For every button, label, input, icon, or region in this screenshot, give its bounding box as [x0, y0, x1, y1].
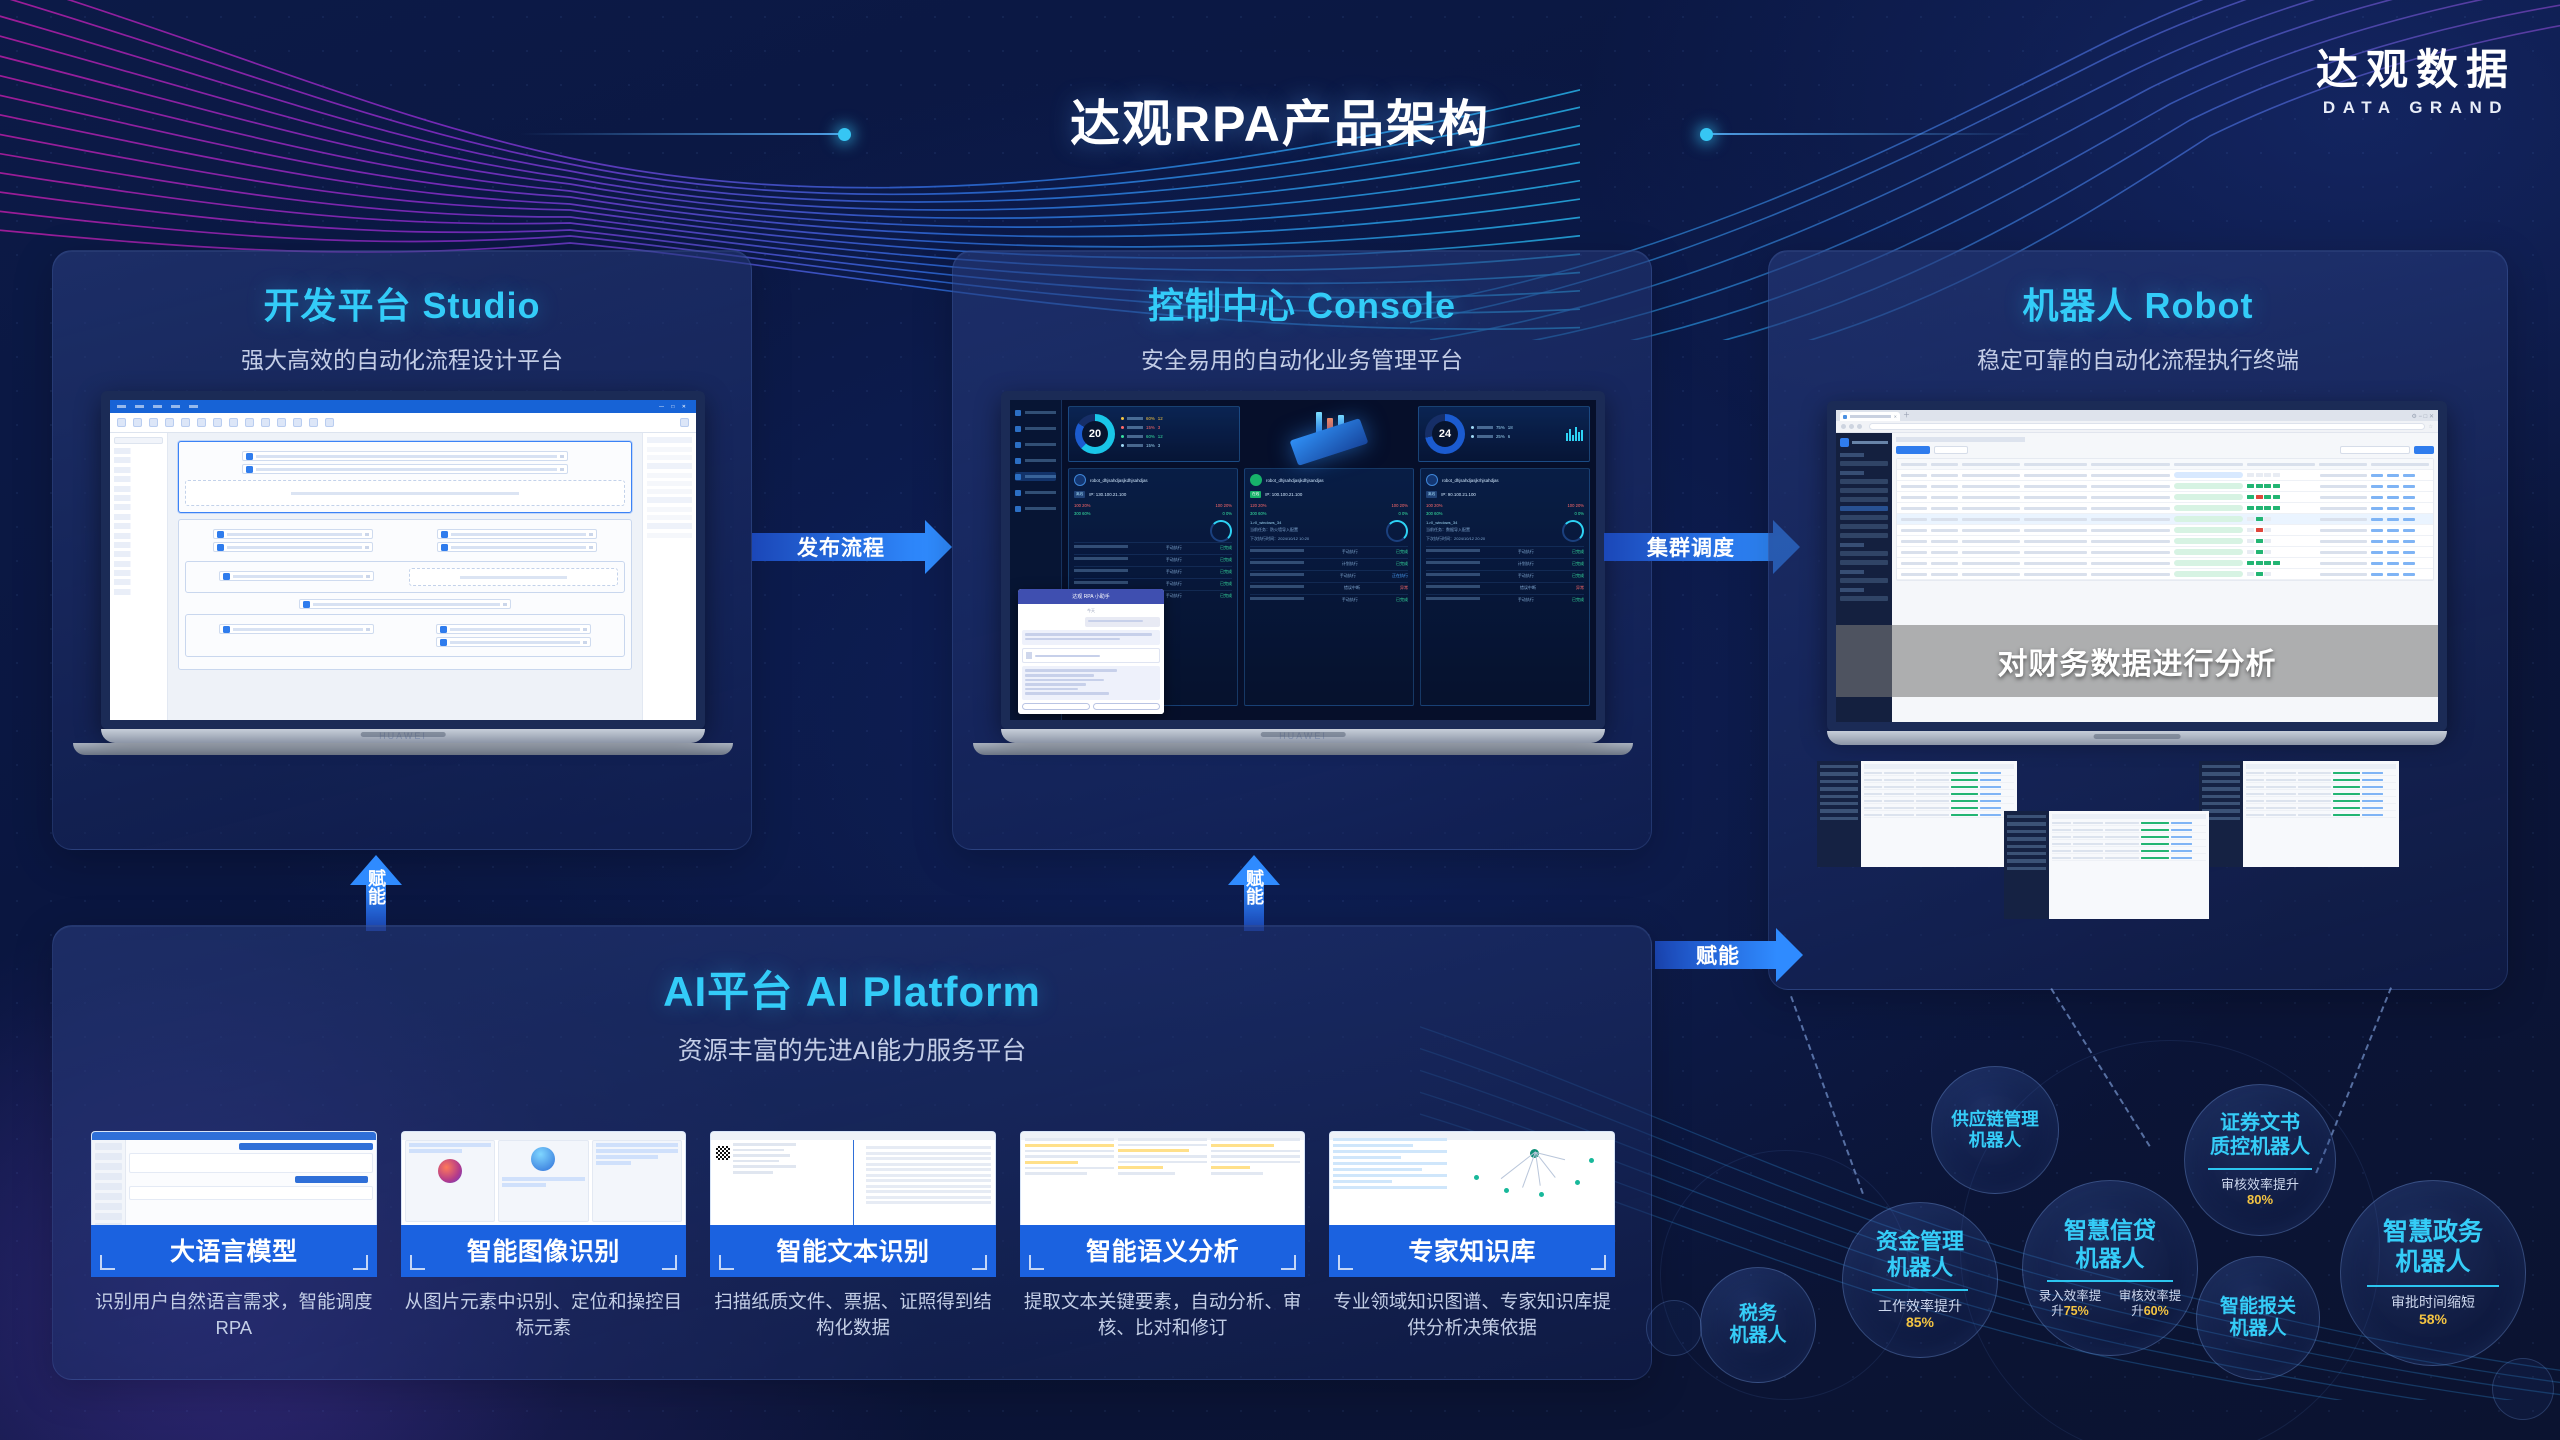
panel-robot-title: 机器人 Robot	[1769, 277, 2507, 329]
donut-chart-left: 20	[1075, 414, 1115, 454]
search-input[interactable]	[2340, 446, 2410, 454]
console-laptop-brand: HUAWEI	[1001, 731, 1605, 741]
table-row[interactable]	[1897, 547, 2433, 558]
content-toolbar[interactable]	[1896, 446, 2434, 454]
arrow-publish-flow-label: 发布流程	[752, 520, 930, 574]
console-robot-card[interactable]: robot_dhjsahdjasjkrhjsahdjas 离线 IP: 90.1…	[1420, 468, 1590, 706]
studio-titlebar: — □ ✕	[110, 400, 696, 413]
bubble-gov-value: 58%	[2419, 1311, 2447, 1327]
panel-studio: 开发平台 Studio 强大高效的自动化流程设计平台 — □ ✕	[52, 250, 752, 850]
bookmark-icon[interactable]: ☆	[2429, 424, 2433, 430]
table-row[interactable]	[1897, 569, 2433, 580]
secondary-action-button[interactable]	[1934, 446, 1968, 454]
bubble-credit-suffix: 机器人	[2076, 1245, 2145, 1271]
table-row[interactable]	[1897, 525, 2433, 536]
bubble-credit-value-b: 60%	[2144, 1304, 2169, 1318]
robot-scenario-cluster: 税务 机器人 资金管理 机器人 工作效率提升85% 供应链管理 机器人	[1680, 1000, 2560, 1440]
ai-card-kb-label: 专家知识库	[1329, 1225, 1615, 1277]
bubble-gov-suffix: 机器人	[2395, 1248, 2470, 1276]
panel-ai-head: AI平台 AI Platform 资源丰富的先进AI能力服务平台	[53, 926, 1651, 1067]
ai-card-semantic-screenshot	[1020, 1131, 1306, 1225]
robot-records-mini	[1817, 761, 2017, 859]
studio-flow-canvas[interactable]	[168, 433, 642, 720]
panel-ai-subtitle: 资源丰富的先进AI能力服务平台	[53, 1031, 1651, 1067]
ai-card-kb-screenshot	[1329, 1131, 1615, 1225]
console-rpa-assistant-chat[interactable]: 达观 RPA 小助手 今天	[1018, 589, 1164, 714]
poster-header: 达观RPA产品架构 达观数据 DATA GRAND	[0, 0, 2560, 170]
arrow-publish-flow: 发布流程	[752, 520, 952, 574]
title-dot-right	[1700, 128, 1713, 141]
arrow-empower-studio-label: 赋能	[363, 869, 389, 905]
brand-logo: 达观数据 DATA GRAND	[2316, 48, 2516, 118]
records-table	[1896, 458, 2434, 581]
panel-console: 控制中心 Console 安全易用的自动化业务管理平台	[952, 250, 1652, 850]
ai-card-semantic-analysis[interactable]: 智能语义分析 提取文本关键要素，自动分析、审核、比对和修订	[1020, 1131, 1306, 1342]
bubble-customs-robot[interactable]: 智能报关 机器人	[2196, 1256, 2320, 1380]
breadcrumb	[1896, 437, 2025, 442]
arrow-empower-console: 赋能	[1228, 855, 1280, 931]
robot-card-ip: IP: 90.100.21.100	[1441, 492, 1476, 497]
studio-laptop-screen: — □ ✕	[101, 391, 705, 729]
robot-records-mini	[2199, 761, 2399, 859]
flow-group[interactable]	[178, 519, 632, 670]
browser-address-bar[interactable]: ☆	[1836, 421, 2438, 433]
bubble-tax-name: 税务	[1739, 1303, 1777, 1324]
robot-laptop-screen: ✕ ＋ ⚙ − □ ✕ ☆	[1827, 401, 2447, 731]
ai-capability-cards: 大语言模型 识别用户自然语言需求，智能调度RPA 智能图像识别 从图片元素	[53, 1131, 1653, 1342]
robot-laptop-center-screen	[2004, 811, 2209, 911]
ai-card-llm-screenshot	[91, 1131, 377, 1225]
bubble-divider	[2208, 1168, 2312, 1170]
table-row[interactable]	[1897, 492, 2433, 503]
chat-body: 今天	[1018, 604, 1164, 714]
ai-card-text-recognition[interactable]: 智能文本识别 扫描纸质文件、票据、证照得到结构化数据	[710, 1131, 996, 1342]
browser-tab-strip[interactable]: ✕ ＋ ⚙ − □ ✕	[1836, 410, 2438, 421]
browser-tab[interactable]: ✕	[1840, 412, 1900, 421]
title-rule-right	[1710, 133, 2030, 135]
robot-laptop-left	[1817, 761, 2017, 867]
robot-laptop-base	[1827, 731, 2447, 745]
console-kpi-left: 20 60%12 15%3 60%12 15%3	[1068, 406, 1240, 462]
table-row[interactable]	[1897, 558, 2433, 569]
console-kpi-right-legend: 75%18 25%6	[1471, 425, 1513, 443]
arrow-empower-console-label: 赋能	[1241, 869, 1267, 905]
browser-nav-buttons[interactable]	[1841, 424, 1865, 430]
bubble-customs-name: 智能报关	[2220, 1296, 2296, 1317]
bubble-securities-robot[interactable]: 证券文书 质控机器人 审核效率提升80%	[2184, 1084, 2336, 1236]
studio-activity-palette[interactable]	[110, 433, 168, 720]
decorative-bubble	[1646, 1300, 1702, 1356]
bubble-divider	[2367, 1285, 2499, 1287]
poster-canvas: 达观RPA产品架构 达观数据 DATA GRAND 开发平台 Studio 强大…	[0, 0, 2560, 1440]
qr-code-icon	[716, 1146, 730, 1160]
console-task-name: 1-r0_windows_34	[1250, 520, 1408, 525]
ai-card-llm-desc: 识别用户自然语言需求，智能调度RPA	[91, 1289, 377, 1342]
console-laptop: 20 60%12 15%3 60%12 15%3	[1001, 391, 1605, 755]
palette-search-input[interactable]	[114, 437, 163, 444]
new-tab-icon[interactable]: ＋	[1903, 410, 1910, 421]
robot-card-name: robot_dhjsahdjasjkdhjsahdjas	[1090, 478, 1148, 483]
panel-robot-subtitle: 稳定可靠的自动化流程执行终端	[1769, 341, 2507, 375]
primary-action-button[interactable]	[1896, 446, 1930, 454]
robot-card-ip: IP: 100.100.21.100	[1265, 492, 1302, 497]
studio-laptop: — □ ✕	[101, 391, 705, 755]
ai-card-semantic-label: 智能语义分析	[1020, 1225, 1306, 1277]
chat-message-bot	[1022, 666, 1160, 700]
bubble-supply-suffix: 机器人	[1969, 1130, 2022, 1150]
chat-message-user	[1085, 617, 1160, 628]
bubble-supply-name: 供应链管理	[1951, 1109, 2039, 1129]
table-row[interactable]	[1897, 536, 2433, 547]
chat-title: 达观 RPA 小助手	[1018, 589, 1164, 604]
robot-video-caption: 对财务数据进行分析	[1836, 625, 2438, 697]
console-kpi-left-legend: 60%12 15%3 60%12 15%3	[1121, 416, 1163, 452]
robot-laptop-right	[2199, 761, 2399, 867]
arrow-empower-robot-label: 赋能	[1655, 928, 1781, 982]
bubble-securities-line2: 质控机器人	[2210, 1136, 2310, 1158]
robot-records-mini	[2004, 811, 2209, 911]
panel-ai-platform: AI平台 AI Platform 资源丰富的先进AI能力服务平台	[52, 925, 1652, 1380]
chat-message-bot	[1022, 630, 1160, 645]
bubble-fund-robot[interactable]: 资金管理 机器人 工作效率提升85%	[1842, 1202, 1998, 1358]
arrow-cluster-dispatch: 集群调度	[1604, 520, 1800, 574]
table-row[interactable]	[1897, 514, 2433, 525]
panel-robot: 机器人 Robot 稳定可靠的自动化流程执行终端 ✕ ＋ ⚙ − □ ✕ ☆	[1768, 250, 2508, 990]
panel-studio-subtitle: 强大高效的自动化流程设计平台	[53, 341, 751, 375]
robot-laptop-right-screen	[2199, 761, 2399, 859]
knowledge-graph-icon	[1463, 1140, 1610, 1205]
bubble-securities-line1: 证券文书	[2220, 1112, 2300, 1134]
ai-card-image-desc: 从图片元素中识别、定位和操控目标元素	[401, 1289, 687, 1342]
table-row[interactable]	[1897, 470, 2433, 481]
table-row[interactable]	[1897, 481, 2433, 492]
brand-logo-en: DATA GRAND	[2316, 98, 2516, 118]
dashed-connector	[1790, 996, 1864, 1194]
table-row[interactable]	[1897, 503, 2433, 514]
arrow-empower-studio: 赋能	[350, 855, 402, 931]
bubble-credit-value-a: 75%	[2064, 1304, 2089, 1318]
ai-card-llm[interactable]: 大语言模型 识别用户自然语言需求，智能调度RPA	[91, 1131, 377, 1342]
studio-laptop-foot	[73, 743, 733, 755]
panel-robot-head: 机器人 Robot 稳定可靠的自动化流程执行终端	[1769, 251, 2507, 375]
chat-attachment[interactable]	[1022, 648, 1160, 663]
studio-laptop-brand: HUAWEI	[101, 731, 705, 741]
console-laptop-screen: 20 60%12 15%3 60%12 15%3	[1001, 391, 1605, 729]
console-laptop-foot	[973, 743, 1633, 755]
studio-laptop-base: HUAWEI	[101, 729, 705, 743]
bubble-securities-metric: 审核效率提升	[2221, 1177, 2299, 1192]
robot-card-ip: IP: 130.100.21.100	[1089, 492, 1126, 497]
bubble-fund-name: 资金管理	[1876, 1229, 1964, 1254]
donut-right-value: 24	[1425, 414, 1465, 454]
robot-laptop-left-screen	[1817, 761, 2017, 859]
robot-laptop-main: ✕ ＋ ⚙ − □ ✕ ☆	[1827, 401, 2447, 745]
console-laptop-base: HUAWEI	[1001, 729, 1605, 743]
panel-console-subtitle: 安全易用的自动化业务管理平台	[953, 341, 1651, 375]
ai-card-semantic-desc: 提取文本关键要素，自动分析、审核、比对和修订	[1020, 1289, 1306, 1342]
console-dashboard-mock: 20 60%12 15%3 60%12 15%3	[1010, 400, 1596, 720]
ai-card-image-screenshot	[401, 1131, 687, 1225]
robot-card-status: 离线	[1426, 491, 1437, 498]
console-cube-graphic	[1246, 406, 1412, 462]
arrow-cluster-dispatch-label: 集群调度	[1604, 520, 1778, 574]
ai-card-llm-label: 大语言模型	[91, 1225, 377, 1277]
bubble-divider	[2047, 1280, 2173, 1282]
studio-workspace	[110, 433, 696, 720]
flow-group[interactable]	[178, 441, 632, 513]
console-robot-card[interactable]: robot_dhjsahdjasjkdhjsandjas 在线 IP: 100.…	[1244, 468, 1414, 706]
panel-studio-title: 开发平台 Studio	[53, 277, 751, 329]
ai-card-text-desc: 扫描纸质文件、票据、证照得到结构化数据	[710, 1289, 996, 1342]
robot-card-status: 在线	[1250, 491, 1261, 498]
donut-chart-right: 24	[1425, 414, 1465, 454]
brand-logo-cn: 达观数据	[2316, 48, 2516, 92]
robot-caption-text: 对财务数据进行分析	[1998, 639, 2277, 683]
bubble-divider	[1872, 1289, 1968, 1291]
ai-card-text-label: 智能文本识别	[710, 1225, 996, 1277]
panel-ai-title: AI平台 AI Platform	[53, 958, 1651, 1019]
table-header-row	[1897, 459, 2433, 470]
bubble-customs-suffix: 机器人	[2229, 1318, 2286, 1339]
page-title: 达观RPA产品架构	[0, 84, 2560, 156]
bubble-tax-robot[interactable]: 税务 机器人	[1700, 1267, 1816, 1383]
search-button[interactable]	[2414, 446, 2434, 454]
bubble-fund-value: 85%	[1906, 1314, 1934, 1330]
console-task-name: 1-r0_windows_34	[1426, 520, 1584, 525]
bubble-supply-chain-robot[interactable]: 供应链管理 机器人	[1931, 1066, 2059, 1194]
bubble-fund-metric: 工作效率提升	[1878, 1298, 1962, 1314]
bubble-gov-metric: 审批时间缩短	[2391, 1294, 2475, 1310]
panel-console-head: 控制中心 Console 安全易用的自动化业务管理平台	[953, 251, 1651, 375]
panel-studio-head: 开发平台 Studio 强大高效的自动化流程设计平台	[53, 251, 751, 375]
ai-card-text-screenshot	[710, 1131, 996, 1225]
ai-card-image-label: 智能图像识别	[401, 1225, 687, 1277]
bubble-government-robot[interactable]: 智慧政务 机器人 审批时间缩短58%	[2340, 1180, 2526, 1366]
url-input[interactable]	[1869, 423, 2425, 430]
donut-left-value: 20	[1075, 414, 1115, 454]
chat-quick-replies[interactable]	[1022, 703, 1160, 710]
ai-card-kb-desc: 专业领域知识图谱、专家知识库提供分析决策依据	[1329, 1289, 1615, 1342]
arrow-empower-robot: 赋能	[1655, 928, 1803, 982]
robot-browser-mock: ✕ ＋ ⚙ − □ ✕ ☆	[1836, 410, 2438, 722]
window-controls[interactable]: ⚙ − □ ✕	[2411, 413, 2434, 421]
sidebar-logo	[1840, 438, 1888, 447]
ai-card-image-recognition[interactable]: 智能图像识别 从图片元素中识别、定位和操控目标元素	[401, 1131, 687, 1342]
bubble-gov-name: 智慧政务	[2383, 1218, 2483, 1246]
tab-favicon	[1843, 415, 1847, 419]
console-kpi-right: 24 75%18 25%6	[1418, 406, 1590, 462]
robot-laptop-center	[2004, 811, 2209, 919]
ai-card-knowledge-base[interactable]: 专家知识库 专业领域知识图谱、专家知识库提供分析决策依据	[1329, 1131, 1615, 1342]
bubble-tax-suffix: 机器人	[1729, 1325, 1786, 1346]
studio-app-mock: — □ ✕	[110, 400, 696, 720]
bubble-fund-suffix: 机器人	[1887, 1255, 1953, 1280]
bubble-securities-value: 80%	[2247, 1192, 2273, 1207]
decorative-bubble	[2492, 1358, 2554, 1420]
studio-properties-panel[interactable]	[642, 433, 696, 720]
bubble-credit-name: 智慧信贷	[2064, 1217, 2156, 1243]
console-kpi-row: 20 60%12 15%3 60%12 15%3	[1068, 406, 1590, 462]
robot-card-name: robot_dhjsahdjasjkrhjsahdjas	[1442, 478, 1499, 483]
bubble-credit-robot[interactable]: 智慧信贷 机器人 录入效率提升75% 审核效率提升60%	[2022, 1180, 2198, 1356]
studio-toolbar[interactable]	[110, 413, 696, 433]
dashed-connector	[2050, 988, 2150, 1147]
panel-console-title: 控制中心 Console	[953, 277, 1651, 329]
robot-card-name: robot_dhjsahdjasjkdhjsandjas	[1266, 478, 1324, 483]
robot-card-status: 离线	[1074, 491, 1085, 498]
